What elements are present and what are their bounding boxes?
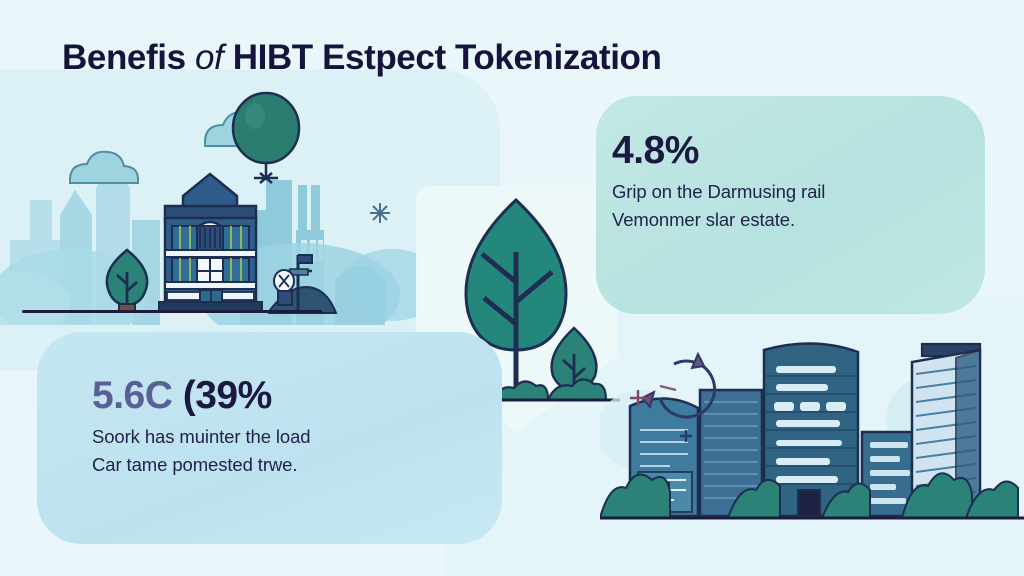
stat-block-bottom-left: 5.6C (39% Soork has muinter the load Car… <box>92 376 311 479</box>
sparkle-icon-left <box>370 203 390 223</box>
stat-description-line2: Car tame pomested trwe. <box>92 451 311 479</box>
ground-line-left <box>22 310 322 313</box>
townhouse-clock-building <box>143 166 278 314</box>
stat-description-line1: Grip on the Darmusing rail <box>612 178 825 206</box>
right-skyline-scene <box>600 322 1024 534</box>
stat-description-line2: Vemonmer slar estate. <box>612 206 825 234</box>
title-part-post: HIBT Estpect Tokenization <box>233 38 662 77</box>
stat-value-dim: 5.6C <box>92 374 172 417</box>
title-part-italic: of <box>195 38 223 77</box>
stat-value-bottom-left: 5.6C (39% <box>92 376 311 415</box>
cloud-icon-left <box>70 152 138 183</box>
stat-value-main: (39% <box>183 374 272 417</box>
street-tree-left <box>96 248 158 314</box>
page-title: Benefis of HIBT Estpect Tokenization <box>62 38 962 78</box>
stat-value-main: 4.8% <box>612 129 699 172</box>
title-part-pre: Benefis <box>62 38 186 77</box>
stat-block-top-right: 4.8% Grip on the Darmusing rail Vemonmer… <box>612 131 825 234</box>
stat-value-top-right: 4.8% <box>612 131 825 170</box>
stat-description-line1: Soork has muinter the load <box>92 423 311 451</box>
infographic-canvas: Benefis of HIBT Estpect Tokenization <box>0 0 1024 576</box>
lamp-post-figure <box>268 225 338 315</box>
